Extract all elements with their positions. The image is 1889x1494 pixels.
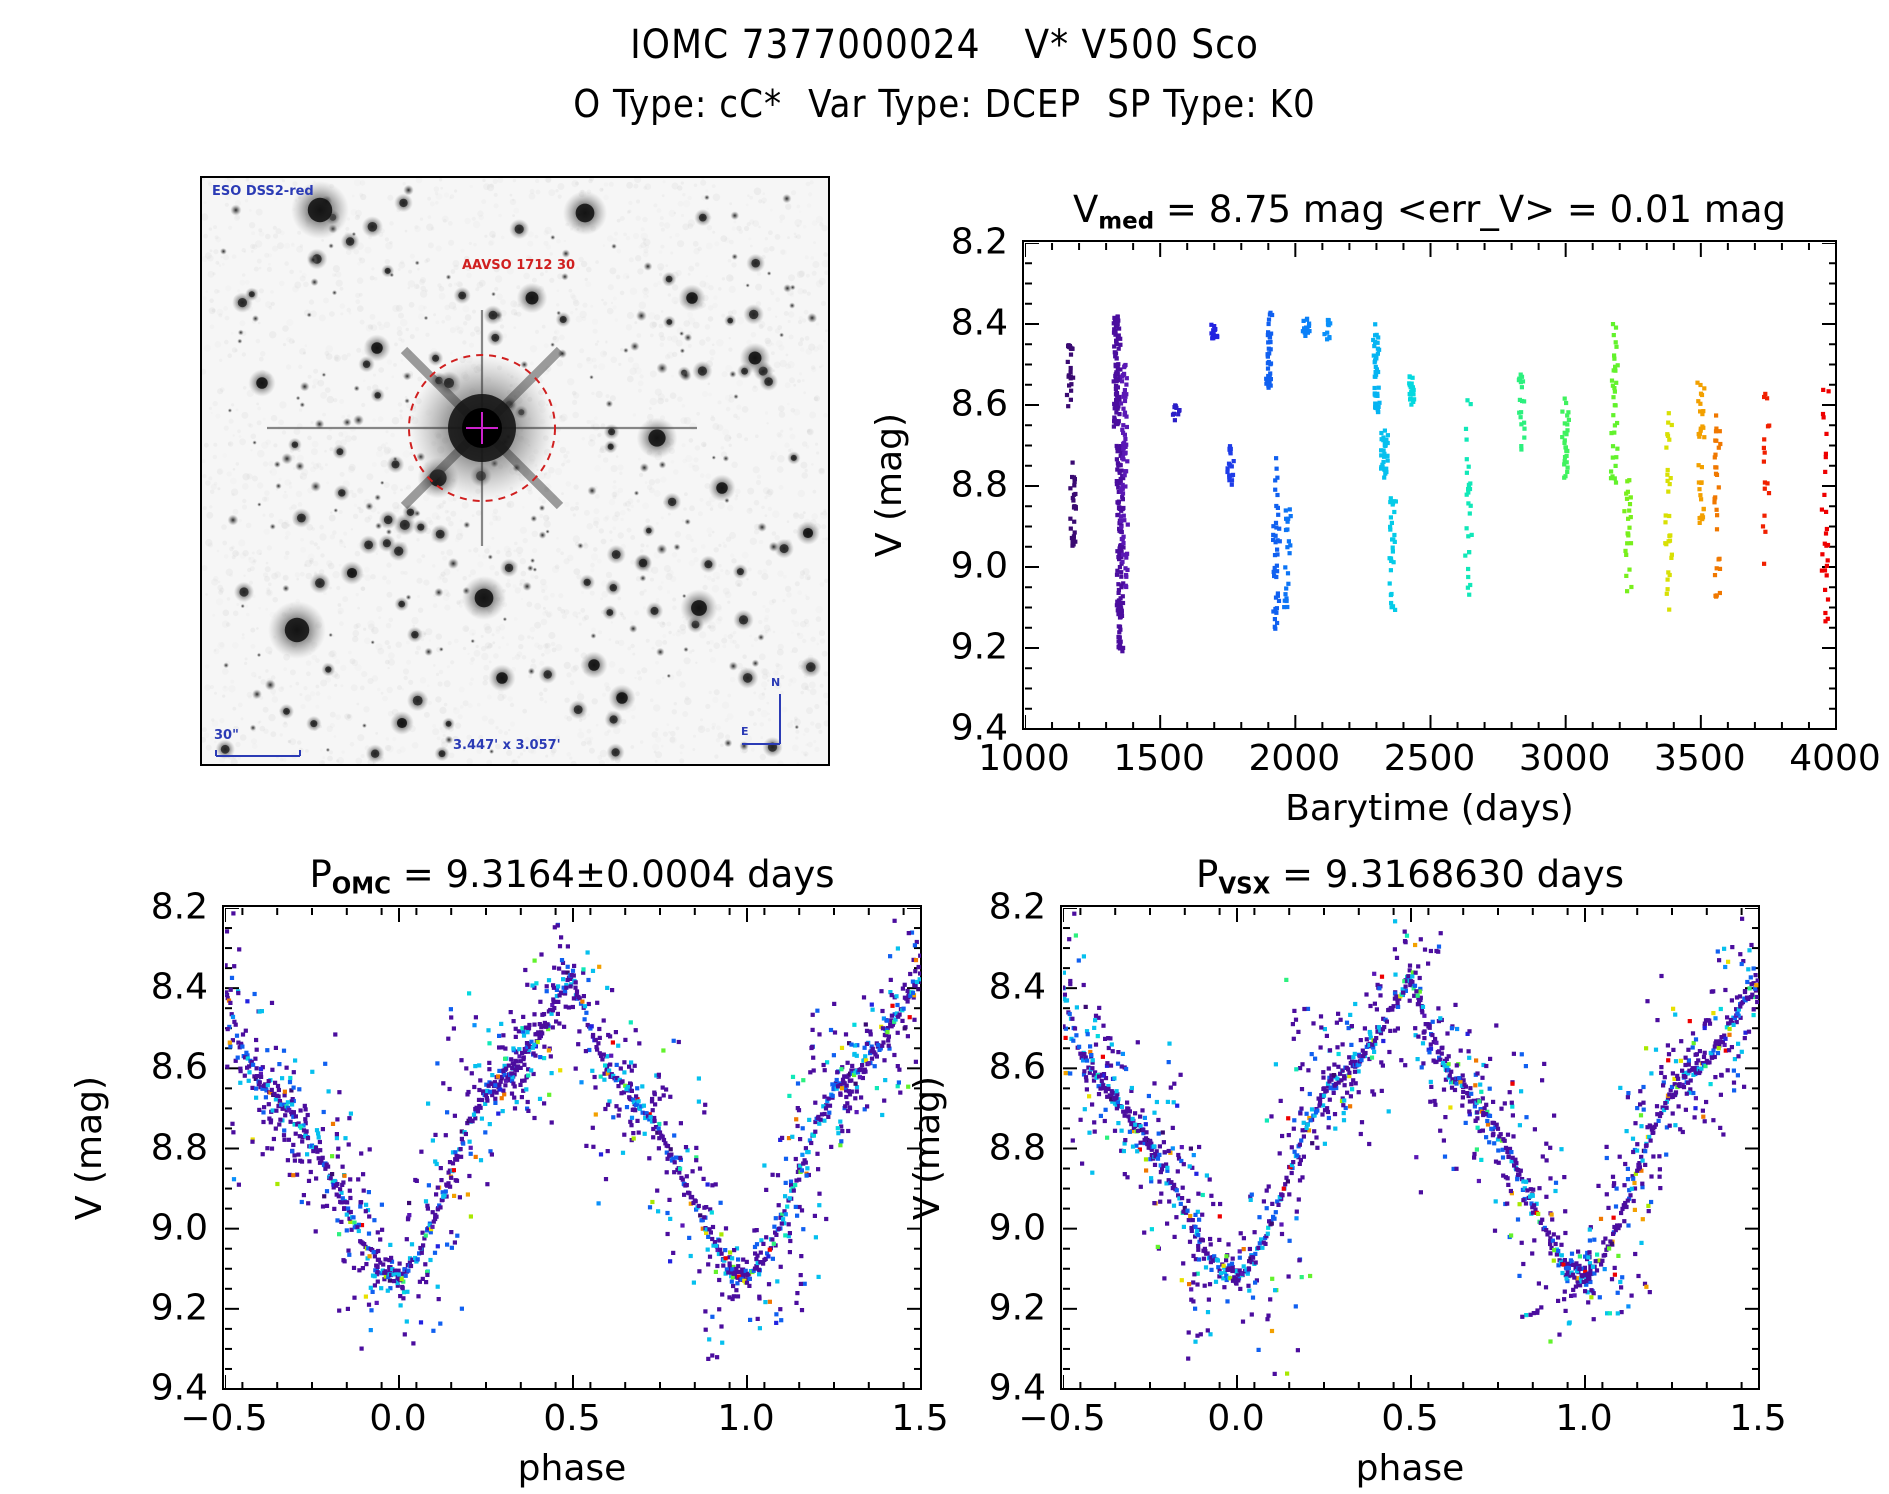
lightcurve-xaxis-label: Barytime (days) [1285, 788, 1574, 829]
lightcurve-yaxis-label: V (mag) [869, 413, 910, 557]
lightcurve-title-prefix: V [1073, 188, 1098, 231]
lightcurve-title: Vmed = 8.75 mag <err_V> = 0.01 mag [1022, 188, 1837, 234]
star-name: V* V500 Sco [1025, 22, 1259, 68]
compass-east-label: E [741, 725, 749, 738]
page-subtitle: O Type: cC*Var Type: DCEPSP Type: K0 [0, 82, 1889, 126]
compass-north-label: N [771, 676, 780, 689]
vartype-label: Var Type: DCEP [808, 82, 1081, 126]
phase-omc-xaxis-label: phase [518, 1448, 627, 1489]
lightcurve-xtick-label: 3500 [1654, 738, 1746, 779]
phase-vsx-xtick-label: 1.5 [1729, 1398, 1786, 1439]
lightcurve-xtick-label: 3000 [1519, 738, 1611, 779]
phase-vsx-xtick-label: 0.0 [1207, 1398, 1264, 1439]
lightcurve-ytick-label: 8.2 [951, 222, 1008, 263]
lightcurve-points [1025, 243, 1836, 729]
lightcurve-plot-area [1022, 240, 1837, 730]
phase-omc-ytick-label: 9.2 [151, 1287, 208, 1328]
phase-omc-xtick-label: 0.0 [369, 1398, 426, 1439]
lightcurve-xtick-label: 4000 [1789, 738, 1881, 779]
phase-vsx-plot-area [1060, 905, 1760, 1390]
lightcurve-ytick-label: 8.6 [951, 384, 1008, 425]
phase-vsx-ytick-label: 9.0 [989, 1207, 1046, 1248]
catalog-id: IOMC 7377000024 [630, 22, 980, 68]
phase-vsx-title: PVSX = 9.3168630 days [1060, 853, 1760, 899]
phase-omc-yaxis-label: V (mag) [69, 1075, 110, 1219]
phase-omc-ytick-label: 8.8 [151, 1127, 208, 1168]
phase-vsx-ytick-label: 8.6 [989, 1047, 1046, 1088]
phase-omc-title-rest: = 9.3164±0.0004 days [391, 853, 835, 896]
phase-omc-xtick-label: 1.5 [891, 1398, 948, 1439]
lightcurve-ytick-label: 8.8 [951, 465, 1008, 506]
phase-vsx-xaxis-label: phase [1356, 1448, 1465, 1489]
lightcurve-ytick-label: 8.4 [951, 303, 1008, 344]
phase-vsx-ytick-label: 8.2 [989, 887, 1046, 928]
lightcurve-title-rest: = 8.75 mag <err_V> = 0.01 mag [1154, 188, 1786, 231]
phase-vsx-ytick-label: 9.4 [989, 1368, 1046, 1409]
lightcurve-xtick-label: 1500 [1113, 738, 1205, 779]
phase-omc-ytick-label: 8.4 [151, 967, 208, 1008]
phase-vsx-yaxis-label: V (mag) [907, 1075, 948, 1219]
phase-vsx-ytick-label: 9.2 [989, 1287, 1046, 1328]
phase-omc-ytick-label: 8.2 [151, 887, 208, 928]
lightcurve-xtick-label: 2500 [1384, 738, 1476, 779]
phase-omc-plot-area [222, 905, 922, 1390]
phase-vsx-ytick-label: 8.8 [989, 1127, 1046, 1168]
sptype-label: SP Type: K0 [1107, 82, 1316, 126]
phase-omc-ytick-label: 8.6 [151, 1047, 208, 1088]
phase-omc-xtick-label: 1.0 [717, 1398, 774, 1439]
lightcurve-xtick-label: 2000 [1249, 738, 1341, 779]
phase-omc-title: POMC = 9.3164±0.0004 days [222, 853, 922, 899]
phase-omc-ytick-label: 9.0 [151, 1207, 208, 1248]
phase-vsx-xtick-label: 0.5 [1381, 1398, 1438, 1439]
page-title: IOMC 7377000024V* V500 Sco [0, 22, 1889, 68]
lightcurve-title-sub: med [1098, 208, 1154, 234]
phase-vsx-title-prefix: P [1196, 853, 1218, 896]
lightcurve-ytick-label: 9.2 [951, 627, 1008, 668]
phase-omc-ytick-label: 9.4 [151, 1368, 208, 1409]
phase-vsx-title-rest: = 9.3168630 days [1270, 853, 1624, 896]
phase-omc-title-prefix: P [309, 853, 331, 896]
aavso-label: AAVSO 1712 30 [462, 258, 575, 273]
phase-vsx-ytick-label: 8.4 [989, 967, 1046, 1008]
phase-omc-points [225, 908, 921, 1389]
scale-bar-label: 30" [214, 728, 239, 743]
phase-omc-xtick-label: 0.5 [543, 1398, 600, 1439]
phase-vsx-xtick-label: 1.0 [1555, 1398, 1612, 1439]
field-size-label: 3.447' x 3.057' [453, 738, 561, 753]
phase-vsx-title-sub: VSX [1218, 873, 1270, 899]
lightcurve-ytick-label: 9.0 [951, 546, 1008, 587]
survey-label: ESO DSS2-red [212, 184, 314, 199]
lightcurve-ytick-label: 9.4 [951, 708, 1008, 749]
phase-vsx-points [1063, 908, 1759, 1389]
otype-label: O Type: cC* [573, 82, 782, 126]
finder-chart: ESO DSS2-red AAVSO 1712 30 30" 3.447' x … [200, 176, 830, 766]
phase-omc-title-sub: OMC [332, 873, 391, 899]
